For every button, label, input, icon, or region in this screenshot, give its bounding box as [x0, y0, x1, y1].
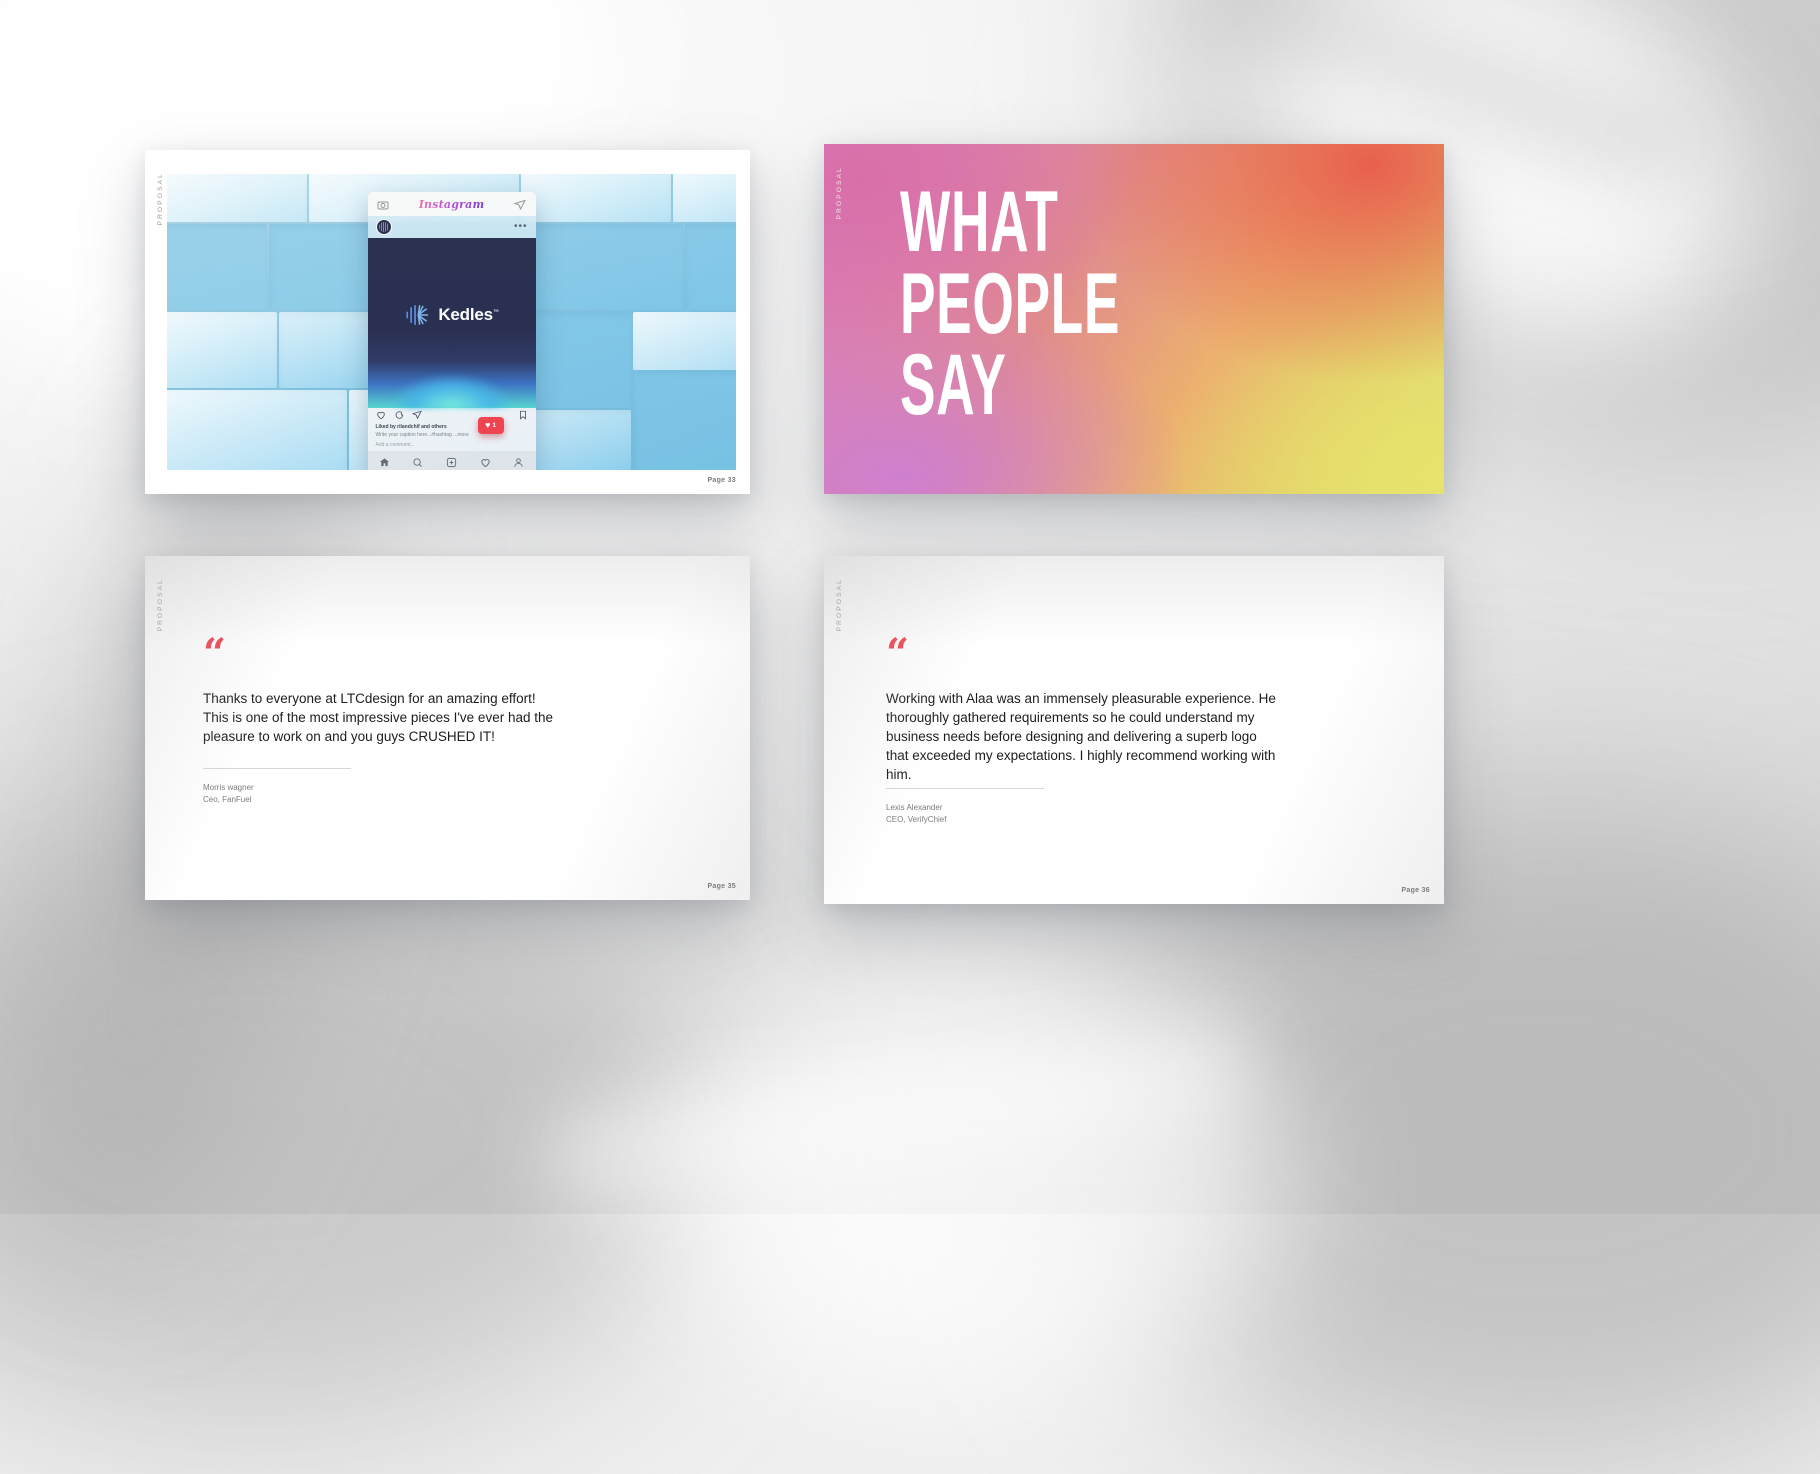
camera-icon[interactable] — [377, 198, 389, 210]
page-title: WHAT PEOPLE SAY — [900, 182, 1212, 427]
divider — [203, 768, 351, 769]
add-post-icon[interactable] — [446, 455, 457, 470]
profile-icon[interactable] — [513, 455, 524, 470]
slide-33[interactable]: PROPOSAL Instagram — [145, 150, 750, 494]
instagram-post-meta: Liked by rilandchif and others Write you… — [368, 423, 536, 451]
paper-plane-icon[interactable] — [514, 198, 526, 210]
share-icon[interactable] — [412, 407, 422, 425]
home-icon[interactable] — [379, 455, 390, 470]
bookmark-icon[interactable] — [518, 407, 528, 425]
slide-side-label: PROPOSAL — [836, 166, 843, 219]
testimonial-author: Lexis Alexander CEO, VerifyChief — [886, 802, 946, 825]
search-icon[interactable] — [412, 455, 423, 470]
page-number: Page 33 — [707, 477, 736, 484]
divider — [886, 788, 1044, 789]
slide-35[interactable]: PROPOSAL “ Thanks to everyone at LTCdesi… — [145, 556, 750, 900]
like-count-badge: ♥ 1 — [478, 417, 504, 434]
heart-icon[interactable] — [376, 407, 386, 425]
quote-mark-icon: “ — [886, 634, 909, 674]
brick-wall-photo: Instagram ••• — [167, 174, 736, 470]
kedles-logo-icon — [404, 302, 430, 328]
slide-side-label: PROPOSAL — [836, 578, 843, 631]
instagram-phone-mockup[interactable]: Instagram ••• — [368, 192, 536, 470]
testimonial-quote: Thanks to everyone at LTCdesign for an a… — [203, 690, 710, 747]
instagram-action-bar — [368, 408, 536, 423]
page-number: Page 36 — [1401, 887, 1430, 894]
avatar[interactable] — [376, 219, 392, 235]
kedles-brand-text: Kedles™ — [438, 305, 498, 325]
slide-36[interactable]: PROPOSAL “ Working with Alaa was an imme… — [824, 556, 1444, 904]
add-comment-input[interactable]: Add a comment... — [376, 442, 528, 448]
caption-text: Write your caption here...#hashtag ...mo… — [376, 432, 528, 438]
slide-side-label: PROPOSAL — [157, 172, 164, 225]
testimonial-author: Morris wagner Ceo, FanFuel — [203, 782, 254, 805]
liked-by-text: Liked by rilandchif and others — [376, 424, 528, 430]
heart-icon: ♥ — [485, 421, 490, 430]
activity-icon[interactable] — [480, 455, 491, 470]
instagram-user-row: ••• — [368, 216, 536, 238]
instagram-logo: Instagram — [419, 198, 485, 211]
instagram-bottom-nav — [368, 451, 536, 470]
slide-34[interactable]: PROPOSAL WHAT PEOPLE SAY — [824, 144, 1444, 494]
instagram-post-image: Kedles™ — [368, 238, 536, 408]
quote-mark-icon: “ — [203, 634, 226, 674]
comment-icon[interactable] — [394, 407, 404, 425]
slide-side-label: PROPOSAL — [157, 578, 164, 631]
page-number: Page 35 — [707, 883, 736, 890]
instagram-top-bar: Instagram — [368, 192, 536, 216]
testimonial-quote: Working with Alaa was an immensely pleas… — [886, 690, 1410, 784]
